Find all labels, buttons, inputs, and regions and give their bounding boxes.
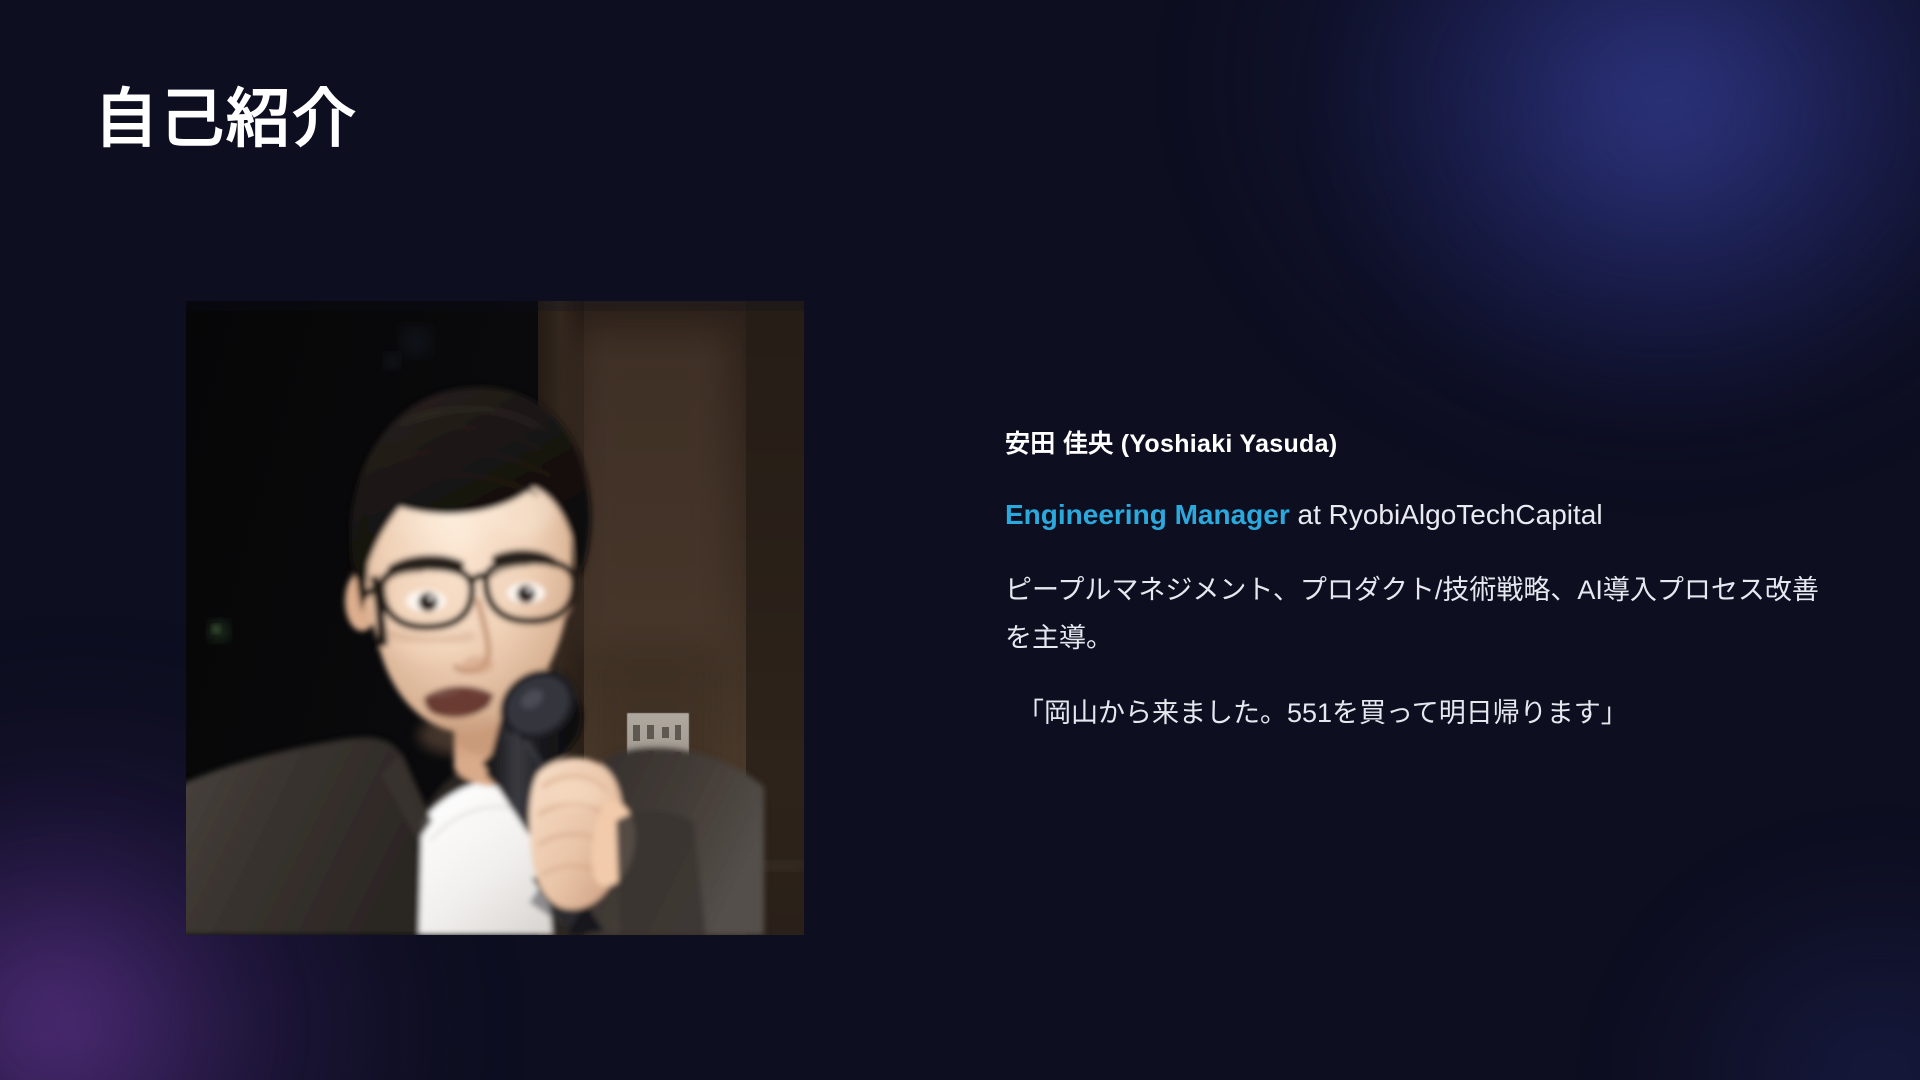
speaker-company: RyobiAlgoTechCapital	[1329, 499, 1603, 530]
speaker-photo	[186, 301, 804, 935]
background-glow-top-right	[1210, 0, 1920, 460]
speaker-quote: 「岡山から来ました。551を買って明日帰ります」	[1017, 692, 1845, 735]
speaker-photo-image	[186, 301, 804, 935]
bio-block: 安田 佳央 (Yoshiaki Yasuda) Engineering Mana…	[1005, 428, 1845, 735]
speaker-role-line: Engineering Manager at RyobiAlgoTechCapi…	[1005, 496, 1845, 534]
speaker-description: ピープルマネジメント、プロダクト/技術戦略、AI導入プロセス改善を主導。	[1005, 566, 1825, 662]
slide-title: 自己紹介	[94, 80, 358, 158]
background-glow-top-right-inner	[1360, 0, 1920, 400]
speaker-role-title: Engineering Manager	[1005, 499, 1290, 530]
background-glow-bottom-right	[1620, 850, 1920, 1080]
slide-root: 自己紹介	[0, 0, 1920, 1080]
speaker-role-connector: at	[1290, 499, 1329, 530]
speaker-name: 安田 佳央 (Yoshiaki Yasuda)	[1005, 428, 1845, 462]
